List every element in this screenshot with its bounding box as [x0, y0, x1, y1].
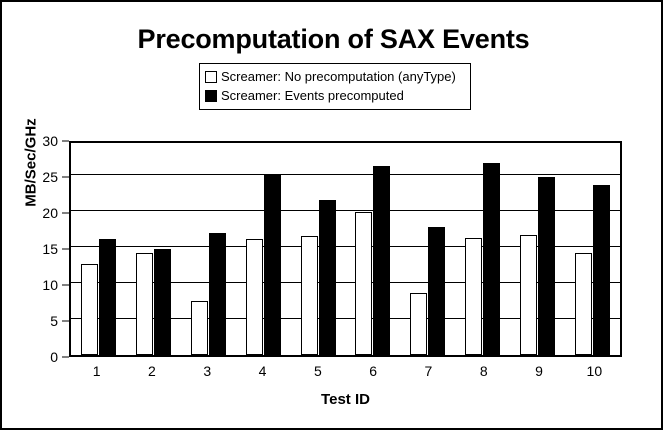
x-tick-label: 4: [235, 363, 290, 379]
legend-item-events-precomputed: Screamer: Events precomputed: [205, 86, 465, 105]
bar: [410, 293, 427, 355]
y-tick-mark: [62, 321, 69, 322]
bar-group: [291, 143, 346, 355]
bar-group: [400, 143, 455, 355]
x-tick-label: 1: [69, 363, 124, 379]
bar: [99, 239, 116, 355]
bar-group: [565, 143, 620, 355]
y-tick-mark: [62, 285, 69, 286]
x-tick-label: 7: [401, 363, 456, 379]
legend-swatch-black-icon: [205, 90, 217, 102]
y-tick-mark: [62, 177, 69, 178]
x-tick-label: 8: [456, 363, 511, 379]
bar: [373, 166, 390, 355]
bar: [264, 175, 281, 355]
y-tick-mark: [62, 141, 69, 142]
bar: [593, 185, 610, 355]
legend-swatch-white-icon: [205, 71, 217, 83]
x-tick-label: 9: [511, 363, 566, 379]
bar-group: [346, 143, 401, 355]
bar: [81, 264, 98, 355]
bar-group: [71, 143, 126, 355]
x-axis-title: Test ID: [69, 391, 622, 408]
chart-legend: Screamer: No precomputation (anyType) Sc…: [199, 63, 471, 110]
x-tick-label: 3: [180, 363, 235, 379]
bar: [319, 200, 336, 355]
y-tick-label: 25: [42, 169, 58, 185]
chart-figure: Precomputation of SAX Events Screamer: N…: [0, 0, 663, 430]
bar-group: [126, 143, 181, 355]
y-tick-label: 10: [42, 277, 58, 293]
bar-series-container: [71, 143, 620, 355]
y-tick-label: 0: [50, 349, 58, 365]
bar: [191, 301, 208, 355]
bar: [575, 253, 592, 355]
bar: [520, 235, 537, 355]
x-tick-label: 5: [290, 363, 345, 379]
bar: [209, 233, 226, 355]
x-tick-label: 6: [345, 363, 400, 379]
y-axis-title: MB/Sec/GHz: [23, 68, 40, 258]
legend-label: Screamer: Events precomputed: [221, 89, 404, 102]
bar-group: [455, 143, 510, 355]
bar-group: [510, 143, 565, 355]
y-tick-label: 20: [42, 205, 58, 221]
y-tick-label: 30: [42, 133, 58, 149]
bar: [538, 177, 555, 355]
y-tick-label: 5: [50, 313, 58, 329]
plot-area: [69, 141, 622, 357]
chart-title: Precomputation of SAX Events: [2, 24, 663, 55]
y-tick-mark: [62, 357, 69, 358]
bar-group: [236, 143, 291, 355]
y-tick-mark: [62, 213, 69, 214]
legend-item-no-precomputation: Screamer: No precomputation (anyType): [205, 67, 465, 86]
y-tick-label: 15: [42, 241, 58, 257]
x-axis: 12345678910: [69, 363, 622, 379]
bar: [428, 227, 445, 355]
x-tick-label: 2: [124, 363, 179, 379]
bar-group: [181, 143, 236, 355]
bar: [355, 212, 372, 355]
bar: [483, 163, 500, 355]
bar: [246, 239, 263, 355]
bar: [136, 253, 153, 355]
bar: [465, 238, 482, 355]
x-tick-label: 10: [567, 363, 622, 379]
bar: [154, 249, 171, 355]
y-tick-mark: [62, 249, 69, 250]
legend-label: Screamer: No precomputation (anyType): [221, 70, 456, 83]
bar: [301, 236, 318, 355]
